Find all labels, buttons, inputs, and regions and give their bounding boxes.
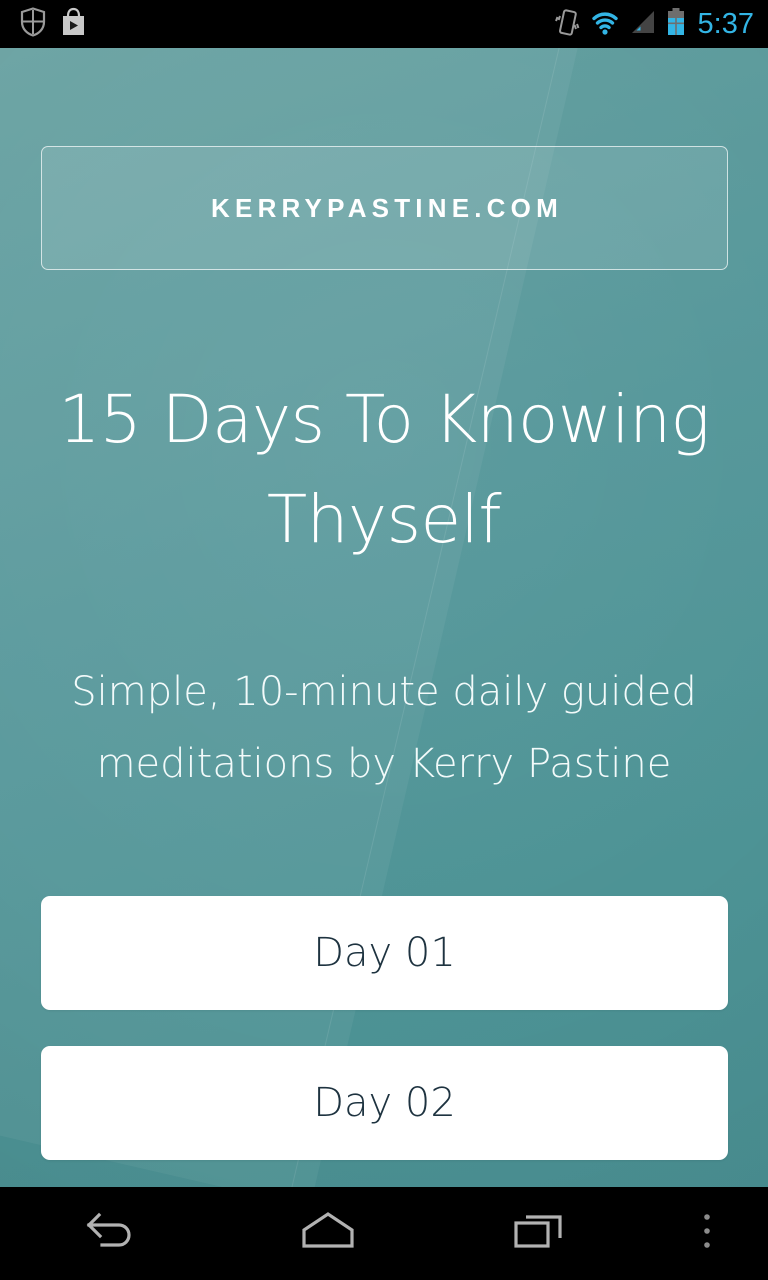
wifi-icon bbox=[590, 8, 620, 41]
recents-button[interactable] bbox=[434, 1187, 646, 1280]
status-bar-left-icons bbox=[0, 7, 87, 42]
status-bar-clock: 5:37 bbox=[698, 10, 754, 39]
day-button-02[interactable]: Day 02 bbox=[41, 1046, 728, 1160]
day-button-label: Day 01 bbox=[313, 933, 456, 973]
cell-signal-icon bbox=[630, 8, 656, 41]
vibrate-icon bbox=[554, 7, 580, 42]
brand-label: KERRYPASTINE.COM bbox=[206, 195, 563, 221]
day-button-label: Day 02 bbox=[313, 1083, 456, 1123]
recents-icon bbox=[511, 1208, 569, 1259]
day-button-01[interactable]: Day 01 bbox=[41, 896, 728, 1010]
brand-banner[interactable]: KERRYPASTINE.COM bbox=[41, 146, 728, 270]
play-store-bag-icon bbox=[60, 7, 87, 42]
android-navigation-bar bbox=[0, 1187, 768, 1280]
overflow-menu-icon bbox=[700, 1210, 714, 1257]
status-bar: 5:37 bbox=[0, 0, 768, 48]
back-button[interactable] bbox=[0, 1187, 222, 1280]
back-icon bbox=[80, 1207, 142, 1260]
page-title: 15 Days To Knowing Thyself bbox=[0, 370, 768, 570]
status-bar-right-icons: 5:37 bbox=[554, 7, 768, 42]
device-screen: 5:37 KERRYPASTINE.COM 15 Days To Knowing… bbox=[0, 0, 768, 1280]
home-icon bbox=[298, 1208, 358, 1259]
overflow-menu-button[interactable] bbox=[646, 1187, 768, 1280]
battery-icon bbox=[666, 7, 686, 42]
shield-icon bbox=[20, 7, 46, 42]
page-subtitle: Simple, 10-minute daily guided meditatio… bbox=[0, 656, 768, 800]
app-content: KERRYPASTINE.COM 15 Days To Knowing Thys… bbox=[0, 48, 768, 1187]
home-button[interactable] bbox=[222, 1187, 434, 1280]
